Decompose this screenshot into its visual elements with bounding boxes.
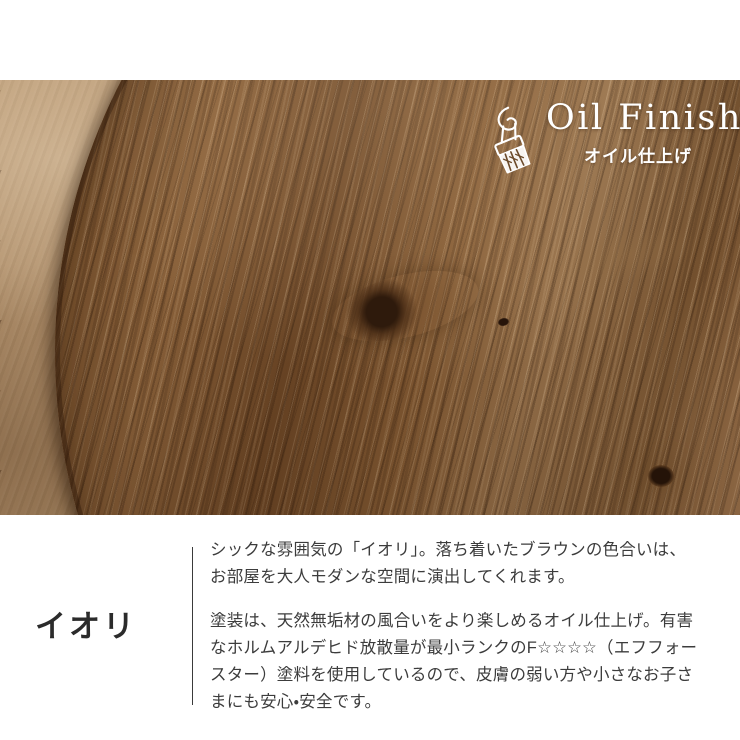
oil-finish-badge: Oil Finish オイル仕上げ <box>480 98 730 188</box>
product-feature-page: Oil Finish オイル仕上げ イオリ シックな雰囲気の「イオリ」。落ち着い… <box>0 0 740 740</box>
vertical-divider <box>192 547 193 705</box>
badge-text-group: Oil Finish オイル仕上げ <box>546 98 730 167</box>
badge-subtitle: オイル仕上げ <box>546 142 730 167</box>
badge-title: Oil Finish <box>546 98 730 138</box>
product-name-heading: イオリ <box>35 611 137 642</box>
description-paragraph: 塗装は、天然無垢材の風合いをより楽しめるオイル仕上げ。有害なホルムアルデヒド放散… <box>210 608 702 715</box>
product-photo: Oil Finish オイル仕上げ <box>0 80 740 515</box>
product-description-section: イオリ シックな雰囲気の「イオリ」。落ち着いたブラウンの色合いは、お部屋を大人モ… <box>0 515 740 740</box>
description-body: シックな雰囲気の「イオリ」。落ち着いたブラウンの色合いは、お部屋を大人モダンな空… <box>210 537 702 715</box>
description-paragraph: シックな雰囲気の「イオリ」。落ち着いたブラウンの色合いは、お部屋を大人モダンな空… <box>210 537 702 590</box>
